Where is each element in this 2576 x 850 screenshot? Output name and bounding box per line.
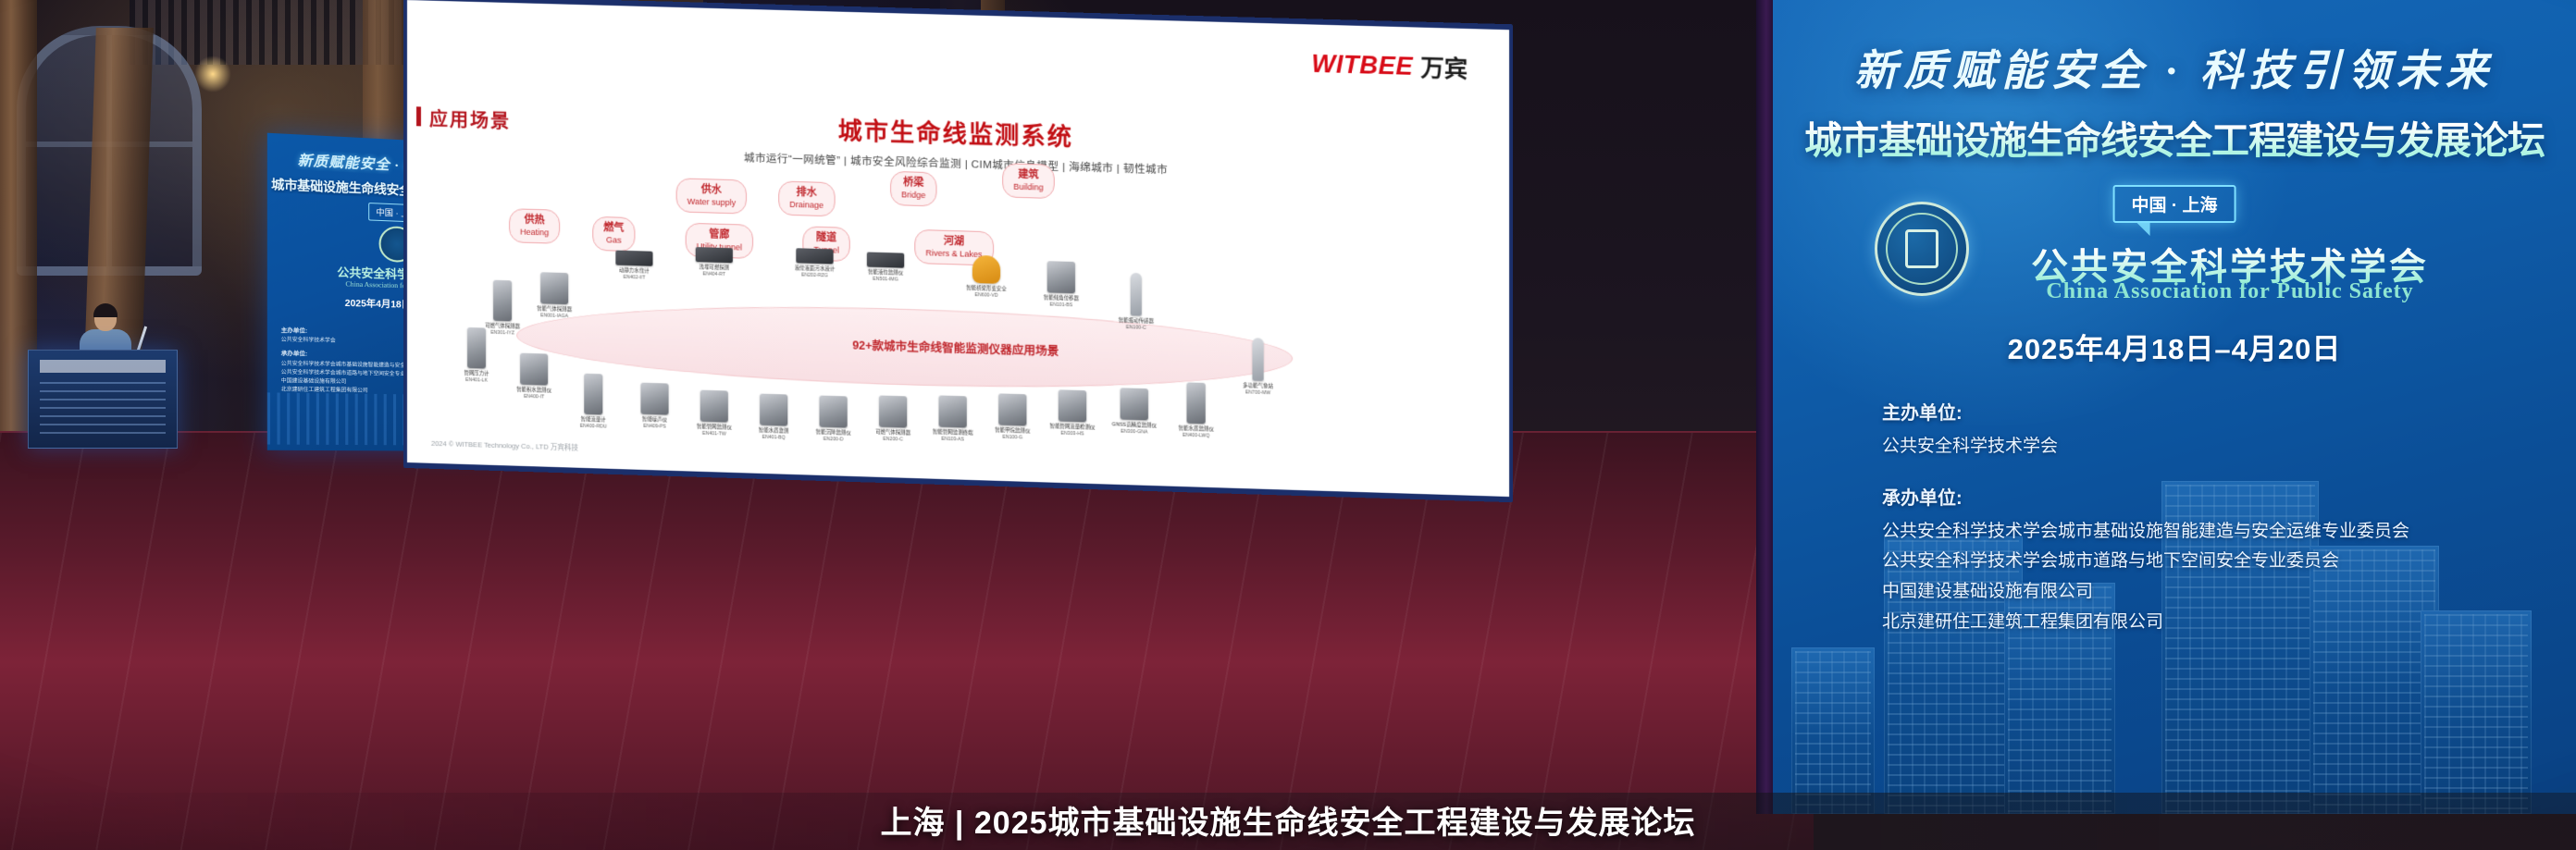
device-item: 液位液面污水液计 EN202-RZG (786, 248, 843, 279)
device-item: 智能管网监测仪 EN401-TW (686, 389, 743, 437)
scenario-bubble: 供水 Water supply (676, 178, 748, 214)
device-model: EN409-PS (625, 424, 683, 431)
conference-photo: 新质赋能安全 · 科技引领未来 城市基础设施生命线安全工程建设与发展论坛 中国 … (0, 0, 2576, 850)
banner-slogan: 新质赋能安全 · 科技引领未来 (1773, 37, 2576, 98)
device-item: 浅埋可燃探测 EN404-RT (686, 247, 743, 278)
device-item: GNSS高精度监测仪 EN300-GNA (1105, 388, 1163, 437)
device-item: 智能气体探测器 EN001-IAGA (526, 272, 583, 320)
device-image (493, 280, 512, 322)
witbee-logo: WITBEE 万宾 (1311, 47, 1468, 85)
device-item: 智能液位监测仪 EN501-IMG (857, 252, 915, 283)
scenario-cn: 供热 (520, 215, 549, 228)
device-image (879, 395, 907, 427)
device-image (615, 251, 652, 266)
device-model: EN401-LK (448, 377, 505, 385)
scenario-cn: 供水 (687, 184, 736, 198)
device-image (1059, 389, 1086, 422)
device-image (972, 255, 1000, 284)
stage-light (194, 55, 231, 92)
device-item: 智能水质监测仪 EN400-LWQ (1167, 382, 1225, 440)
scenario-en: Building (1013, 181, 1043, 192)
building-shape (2421, 610, 2532, 814)
device-image (467, 327, 486, 369)
device-item: 管网压力计 EN401-LK (448, 326, 505, 384)
banner-forum-title: 城市基础设施生命线安全工程建设与发展论坛 (1773, 109, 2576, 165)
scenario-bubble: 桥梁 Bridge (890, 171, 936, 207)
organizer-line: 公共安全科学技术学会城市基础设施智能建造与安全运维专业委员会 (1882, 517, 2554, 548)
device-model: EN101-BS (1033, 302, 1091, 309)
device-image (867, 252, 904, 267)
device-item: 动静力水位计 EN402-IIT (605, 250, 663, 281)
scenario-en: Bridge (901, 190, 925, 201)
device-item: 智能甲烷监测仪 EN100-G (984, 393, 1042, 441)
device-image (1252, 338, 1263, 381)
device-image (696, 247, 733, 263)
scenario-en: Drainage (789, 200, 824, 211)
device-model: EN401-BQ (745, 435, 802, 442)
device-item: 可燃气体探测器 EN200-C (864, 395, 923, 443)
device-model: EN100-G (984, 434, 1042, 441)
device-item: 智能桥梁形变安全 EN600-VD (958, 254, 1016, 299)
organizer-line: 中国建设基础设施有限公司 (1882, 577, 2554, 608)
scenario-en: Heating (520, 227, 549, 238)
banner-organizers: 主办单位: 公共安全科学技术学会 承办单位: 公共安全科学技术学会城市基础设施智… (1882, 398, 2554, 637)
podium-nameplate (40, 360, 166, 373)
device-model: EN200-C (864, 436, 923, 443)
device-image (1186, 382, 1205, 424)
device-item: 智能倾角位移器 EN101-BS (1033, 261, 1091, 309)
device-item: 智能噪声仪 EN409-PS (625, 382, 683, 430)
brand-latin: WITBEE (1311, 49, 1413, 80)
device-image (998, 393, 1026, 425)
device-image (819, 396, 847, 428)
device-image (796, 248, 833, 264)
mini-organizer-line: 公共安全科学技术学会城市道路与地下空间安全专业委员会 (281, 370, 421, 378)
device-item: 智能沉降监测仪 EN200-D (804, 395, 861, 443)
device-image (540, 272, 568, 304)
device-model: EN400-LWQ (1167, 432, 1225, 439)
banner-location-badge: 中国 · 上海 (2113, 185, 2236, 223)
scenario-en: Gas (603, 235, 624, 246)
stage-floor (0, 433, 1814, 850)
brand-cn: 万宾 (1420, 50, 1468, 85)
device-image (760, 394, 787, 426)
device-image (1131, 273, 1142, 316)
banner-date: 2025年4月18日–4月20日 (1773, 326, 2576, 367)
device-image (1047, 261, 1075, 293)
device-model: EN401-TW (686, 431, 743, 438)
presentation-slide: WITBEE 万宾 应用场景 城市生命线监测系统 城市运行“一网统管” | 城市… (407, 0, 1509, 497)
device-image (1121, 388, 1148, 420)
scenario-cn: 隧道 (813, 232, 838, 246)
device-image (640, 383, 668, 415)
scenario-bubble: 燃气 Gas (592, 216, 635, 252)
conference-banner: 新质赋能安全 · 科技引领未来 城市基础设施生命线安全工程建设与发展论坛 中国 … (1773, 0, 2576, 814)
scenario-cn: 桥梁 (901, 177, 925, 191)
host-heading: 主办单位: (1882, 398, 2554, 425)
organizer-line: 北京建研住工建筑工程集团有限公司 (1882, 608, 2554, 638)
projection-screen: WITBEE 万宾 应用场景 城市生命线监测系统 城市运行“一网统管” | 城市… (407, 0, 1509, 497)
device-item: 智能流量计 EN400-RDU (564, 373, 622, 430)
organizer-line: 公共安全科学技术学会城市道路与地下空间安全专业委员会 (1882, 547, 2554, 577)
device-image (939, 395, 967, 427)
device-model: EN103-AS (923, 436, 982, 443)
device-model: EN001-IAGA (526, 313, 583, 320)
scenario-bubble: 建筑 Building (1002, 163, 1055, 199)
scenario-cn: 燃气 (603, 222, 624, 235)
device-item: 智能水质监测 EN401-BQ (745, 393, 802, 441)
podium (28, 350, 178, 449)
podium-graphic (40, 382, 166, 437)
slide-footer: 2024 © WITBEE Technology Co., LTD 万宾科技 (431, 438, 578, 453)
mini-organizer-line: 中国建设基础设施有限公司 (281, 378, 347, 385)
building-shape (1791, 647, 1875, 814)
device-item: 智能管网监测终端 EN103-AS (923, 395, 982, 443)
scenario-bubble: 排水 Drainage (778, 180, 835, 216)
device-model: EN400-IT (505, 394, 563, 401)
device-model: EN200-D (804, 437, 861, 444)
device-item: 智能积水监测仪 EN400-IT (505, 352, 563, 400)
device-image (700, 390, 728, 423)
device-item: 智能振动传感器 EN100-C (1107, 272, 1165, 332)
speaker-hair (93, 303, 118, 317)
device-model: EN400-RDU (564, 424, 622, 431)
scenario-cn: 管廊 (697, 228, 742, 242)
device-image (584, 374, 602, 415)
host-line: 公共安全科学技术学会 (1882, 432, 2554, 462)
scenario-cn: 排水 (789, 187, 824, 201)
organizer-heading: 承办单位: (1882, 483, 2554, 510)
caption-bar: 上海 | 2025城市基础设施生命线安全工程建设与发展论坛 (0, 793, 2576, 850)
caption-text: 上海 | 2025城市基础设施生命线安全工程建设与发展论坛 (0, 797, 2576, 843)
device-model: EN700-MW (1229, 389, 1287, 397)
device-image (520, 353, 548, 386)
scenario-cn: 建筑 (1013, 169, 1043, 183)
banner-association-en: China Association for Public Safety (1912, 279, 2548, 304)
device-model: EN402-IIT (605, 275, 663, 282)
device-item: 多功能气象站 EN700-MW (1229, 337, 1287, 397)
device-item: 智能管网流量检测仪 EN303-HS (1044, 389, 1102, 438)
spacer (1882, 462, 2554, 483)
scenario-en: Water supply (687, 196, 736, 208)
scenario-bubble: 供热 Heating (509, 208, 560, 244)
mini-host-line: 公共安全科学技术学会 (281, 338, 336, 344)
device-model: EN600-VD (958, 292, 1016, 300)
